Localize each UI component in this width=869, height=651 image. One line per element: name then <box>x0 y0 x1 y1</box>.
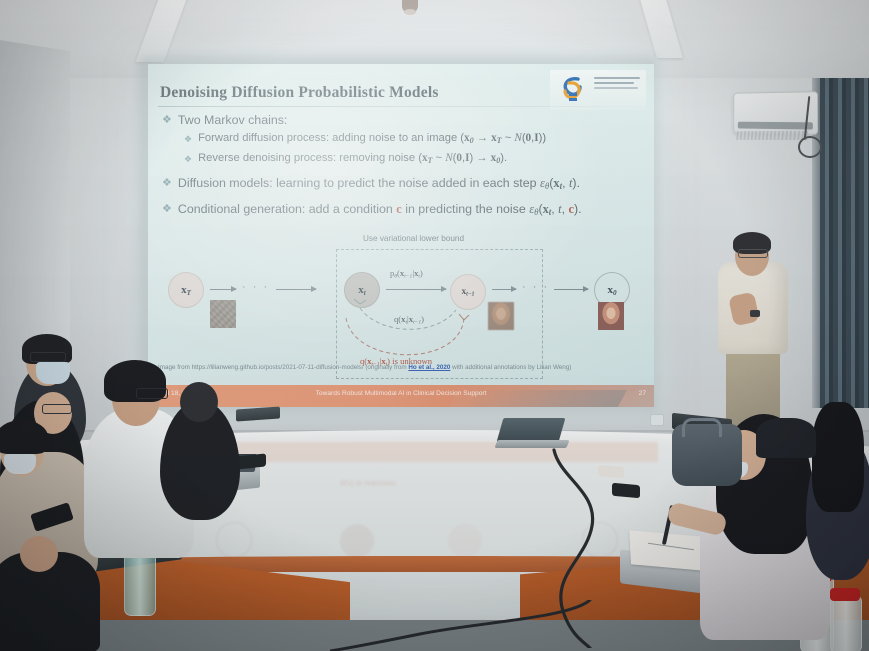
bullet-text-4: Diffusion models: learning to predict th… <box>178 175 580 194</box>
slide-bullet-list: ❖ Two Markov chains: ❖ Forward diffusion… <box>162 112 640 223</box>
diagram-caption: Use variational lower bound <box>363 234 464 243</box>
bullet-text-5: Conditional generation: add a condition … <box>178 201 582 220</box>
diagram-ellipsis-2: · · · <box>522 281 549 293</box>
smoke-detector-icon <box>402 0 418 13</box>
bullet-glyph-icon: ❖ <box>184 131 192 147</box>
logo-mark-icon <box>556 73 590 107</box>
air-conditioner-grill <box>736 131 808 140</box>
diagram-ellipsis-1: · · · <box>242 281 269 293</box>
glasses-icon <box>30 352 66 362</box>
diagram-label-q: q(xt|xt−1) <box>394 314 424 325</box>
footer-swoosh-2 <box>463 390 627 407</box>
bullet-text-1: Two Markov chains: <box>178 112 288 128</box>
bullet-item-5: ❖ Conditional generation: add a conditio… <box>162 201 640 220</box>
photo-scene: Denoising Diffusion Probabilistic Models… <box>0 0 869 651</box>
source-suffix: with additional annotations by Lilian We… <box>450 364 571 371</box>
diagram-arrow-1 <box>210 289 236 290</box>
window-curtain <box>820 78 869 408</box>
diagram-label-ptheta: pθ(xt−1|xt) <box>390 268 423 279</box>
presenter-glasses-icon <box>738 249 768 258</box>
air-conditioner-vent <box>738 122 813 130</box>
glasses-icon <box>42 404 72 414</box>
slide-title: Denoising Diffusion Probabilistic Models <box>160 84 439 102</box>
wall-cable-loop <box>798 136 822 158</box>
phone-right <box>612 483 640 498</box>
source-link[interactable]: Ho et al., 2020 <box>408 364 450 371</box>
bullet-item-3: ❖ Reverse denoising process: removing no… <box>162 151 640 168</box>
diagram-thumb-face-2 <box>598 302 624 330</box>
bullet-glyph-icon: ❖ <box>162 175 172 191</box>
diagram-thumb-noise-1 <box>210 300 236 328</box>
glasses-icon <box>136 388 168 399</box>
source-prefix: Image from https://lilianweng.github.io/… <box>158 364 408 371</box>
ceiling-light-left <box>136 0 189 62</box>
bullet-item-2: ❖ Forward diffusion process: adding nois… <box>162 131 640 148</box>
bullet-glyph-icon: ❖ <box>162 201 172 217</box>
ceiling-light-right <box>639 0 683 58</box>
diagram-arrow-2 <box>276 289 316 290</box>
bullet-text-3: Reverse denoising process: removing nois… <box>198 151 507 168</box>
university-logo <box>550 70 646 110</box>
projection-screen: Denoising Diffusion Probabilistic Models… <box>148 64 654 407</box>
footer-title: Towards Robust Multimodal AI in Clinical… <box>316 390 487 397</box>
bullet-glyph-icon: ❖ <box>184 151 192 167</box>
diagram-node-xT: xT <box>168 272 204 308</box>
footer-page-number: 27 <box>639 390 646 397</box>
bullet-item-4: ❖ Diffusion models: learning to predict … <box>162 175 640 194</box>
bullet-item-1: ❖ Two Markov chains: <box>162 112 640 128</box>
face-mask <box>36 362 70 384</box>
slide-source-note: Image from https://lilianweng.github.io/… <box>158 364 571 371</box>
logo-wordmark <box>594 77 642 92</box>
backpack-handle <box>682 418 722 437</box>
diagram-arrow-4 <box>554 289 588 290</box>
diffusion-diagram: Use variational lower bound xT · · · xt … <box>158 234 644 384</box>
remote-clicker <box>598 465 624 478</box>
face-mask <box>4 454 36 474</box>
power-cable-floor <box>330 600 630 651</box>
wall-outlet-2 <box>650 414 664 426</box>
bullet-text-2: Forward diffusion process: adding noise … <box>198 131 546 148</box>
bullet-glyph-icon: ❖ <box>162 112 172 128</box>
slide-footer-bar: April 18, 2025 Towards Robust Multimodal… <box>148 385 654 407</box>
presenter-watch <box>750 310 760 317</box>
